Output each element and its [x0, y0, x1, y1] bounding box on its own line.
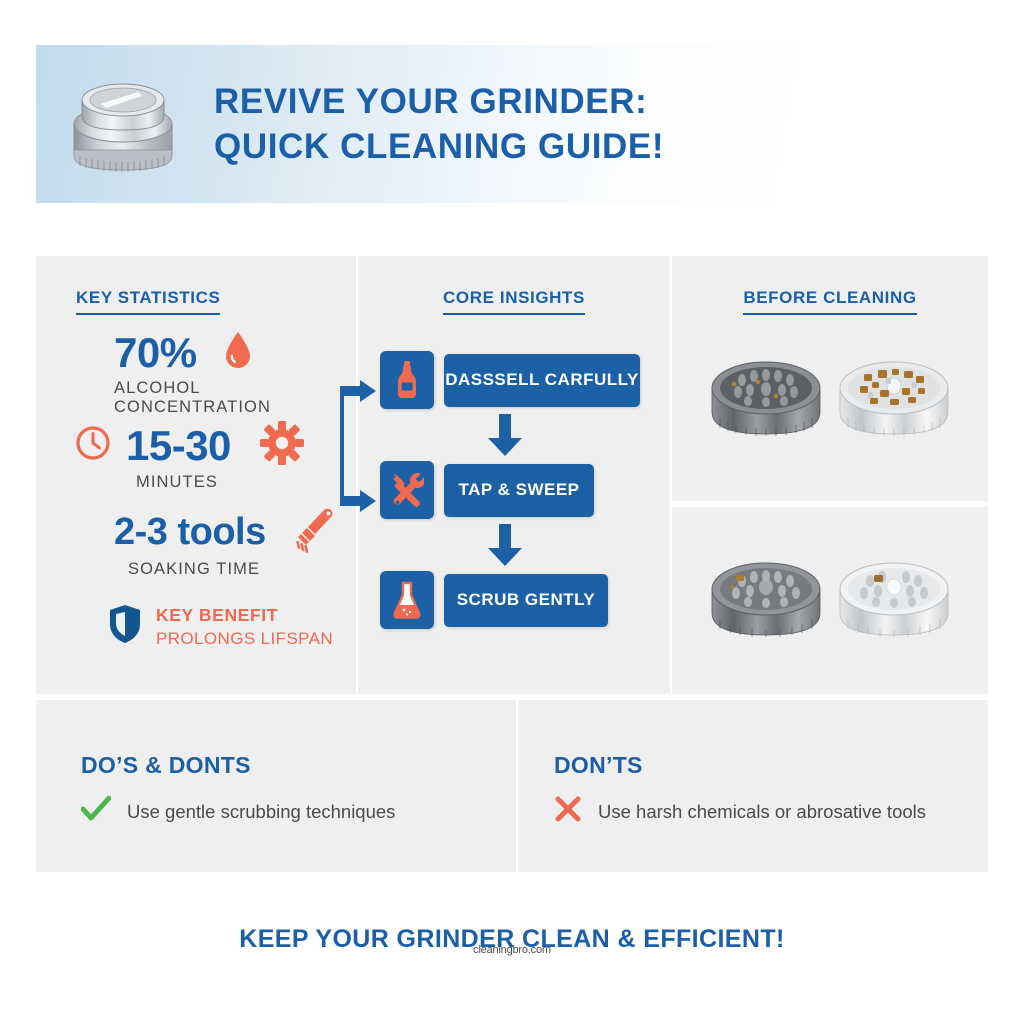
- key-benefit-subtitle: PROLONGS LIFSPAN: [156, 629, 333, 649]
- grinder-clean-light-image: [834, 539, 954, 654]
- dos-panel-content: DO’S & DONTS Use gentle scrubbing techni…: [36, 700, 516, 827]
- donts-panel-title: DON’TS: [554, 752, 988, 779]
- key-benefit-title: KEY BENEFIT: [156, 605, 333, 626]
- grinder-dirty-light-image: [834, 338, 954, 453]
- stat-label: SOAKING TIME: [128, 560, 356, 579]
- stat-value-row: 2-3 tools: [114, 505, 356, 558]
- check-icon: [81, 796, 111, 827]
- flow-step-1[interactable]: DASSSELL CARFULLY: [380, 350, 670, 410]
- flow-down-arrow-2: [488, 524, 522, 566]
- stat-value: 2-3 tools: [114, 510, 266, 554]
- flow-step-label: SCRUB GENTLY: [444, 574, 608, 627]
- list-item: Use gentle scrubbing techniques: [81, 796, 516, 827]
- donts-panel: DON’TS Use harsh chemicals or abrosative…: [518, 700, 988, 872]
- tools-icon: [380, 461, 434, 519]
- flow-step-label: TAP & SWEEP: [444, 464, 594, 517]
- flask-icon: [380, 571, 434, 629]
- flow-step-label: DASSSELL CARFULLY: [444, 354, 640, 407]
- core-insights-heading: CORE INSIGHTS: [443, 288, 585, 315]
- grinder-icon: [58, 64, 188, 184]
- grinder-dirty-dark-image: [706, 338, 826, 453]
- flow-vertical-connector: [340, 388, 344, 504]
- cross-icon: [554, 796, 582, 827]
- key-statistics-heading-wrap: KEY STATISTICS: [36, 256, 356, 315]
- droplet-icon: [223, 330, 253, 375]
- key-benefit-block: KEY BENEFIT PROLONGS LIFSPAN: [36, 603, 356, 650]
- flow-step-3[interactable]: SCRUB GENTLY: [380, 570, 670, 630]
- grinder-row-2: [672, 539, 988, 654]
- flow-step-2[interactable]: TAP & SWEEP: [380, 460, 670, 520]
- stat-value: 70%: [114, 331, 197, 375]
- list-item-text: Use gentle scrubbing techniques: [127, 801, 395, 823]
- shield-icon: [108, 603, 142, 650]
- flow-down-arrow-1: [488, 414, 522, 456]
- stat-minutes: 15-30 MINUTES: [36, 420, 356, 492]
- stat-alcohol-concentration: 70% ALCOHOL CONCENTRATION: [36, 330, 356, 417]
- gear-icon: [259, 420, 305, 471]
- grinder-clean-dark-image: [706, 539, 826, 654]
- flow-down-arrow-1-wrap: [358, 410, 670, 460]
- dos-panel-title: DO’S & DONTS: [81, 752, 516, 779]
- core-insights-heading-wrap: CORE INSIGHTS: [358, 256, 670, 315]
- list-item-text: Use harsh chemicals or abrosative tools: [598, 801, 926, 823]
- donts-panel-content: DON’TS Use harsh chemicals or abrosative…: [518, 700, 988, 827]
- header-title-group: REVIVE YOUR GRINDER: QUICK CLEANING GUID…: [214, 79, 664, 169]
- grinder-row-1: [672, 338, 988, 453]
- stat-label: ALCOHOL CONCENTRATION: [114, 379, 356, 417]
- flow-down-arrow-2-wrap: [358, 520, 670, 570]
- stat-label: MINUTES: [136, 473, 356, 492]
- infographic-page: REVIVE YOUR GRINDER: QUICK CLEANING GUID…: [0, 0, 1024, 1024]
- dos-panel: DO’S & DONTS Use gentle scrubbing techni…: [36, 700, 516, 872]
- list-item: Use harsh chemicals or abrosative tools: [554, 796, 988, 827]
- stat-value-row: 15-30: [74, 420, 356, 471]
- watermark: cleaningbro.com: [0, 944, 1024, 956]
- header-banner: REVIVE YOUR GRINDER: QUICK CLEANING GUID…: [36, 45, 796, 203]
- page-title-line-1: REVIVE YOUR GRINDER:: [214, 79, 664, 124]
- before-cleaning-panel-top: BEFORE CLEANING: [672, 256, 988, 501]
- brush-icon: [290, 505, 338, 558]
- page-title-line-2: QUICK CLEANING GUIDE!: [214, 124, 664, 169]
- key-statistics-heading: KEY STATISTICS: [76, 288, 220, 315]
- bottle-icon: [380, 351, 434, 409]
- before-cleaning-heading: BEFORE CLEANING: [743, 288, 916, 315]
- stat-value-row: 70%: [114, 330, 356, 375]
- clock-icon: [74, 424, 112, 467]
- stat-soaking-time: 2-3 tools SOAKING TIME: [36, 505, 356, 579]
- key-benefit-row: KEY BENEFIT PROLONGS LIFSPAN: [108, 603, 356, 650]
- core-insights-flow: DASSSELL CARFULLY: [358, 350, 670, 630]
- before-cleaning-heading-wrap: BEFORE CLEANING: [672, 256, 988, 315]
- stat-value: 15-30: [126, 424, 231, 468]
- before-cleaning-panel-bottom: [672, 507, 988, 694]
